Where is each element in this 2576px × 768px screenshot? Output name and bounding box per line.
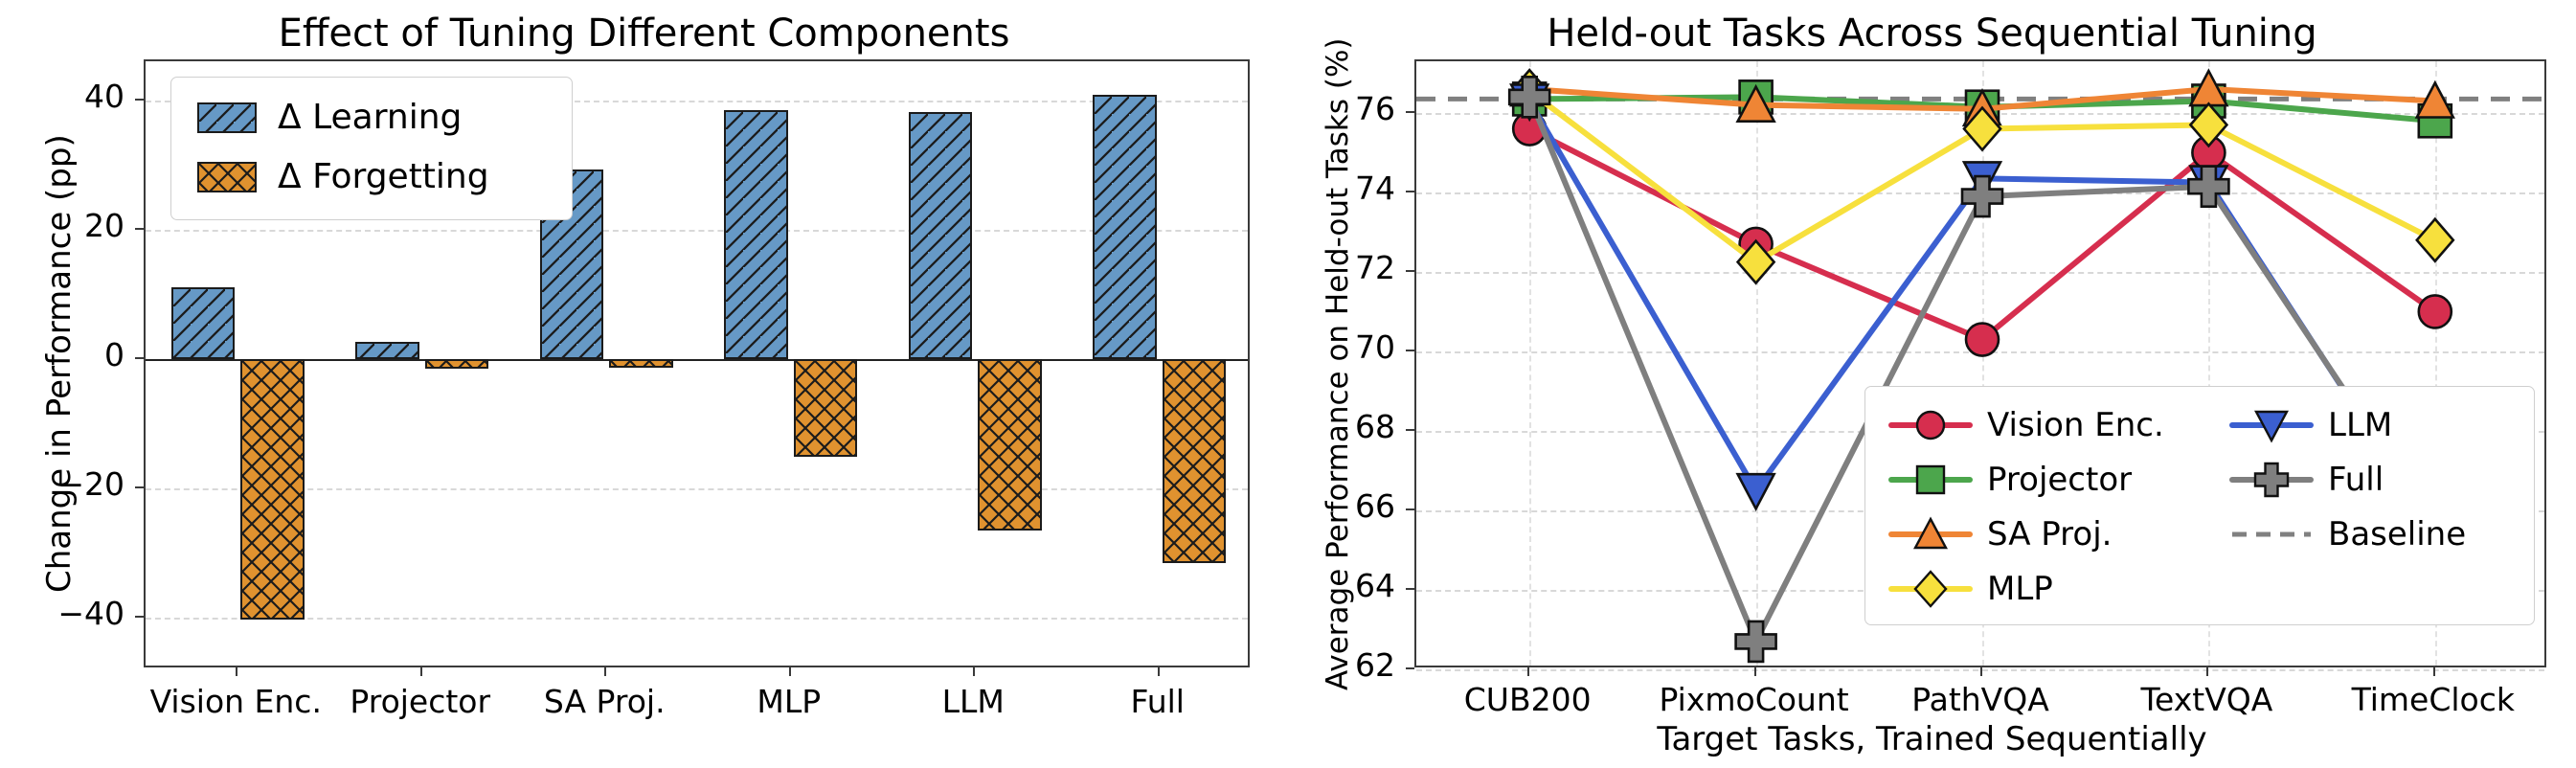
right-x-axis-label: Target Tasks, Trained Sequentially [1288,720,2576,758]
bar-forgetting [978,359,1041,531]
left-y-tick-label: −40 [0,595,124,632]
left-legend-label: Δ Forgetting [278,157,489,196]
right-legend-item[interactable]: Baseline [2228,512,2466,556]
right-legend-label: MLP [1987,570,2053,608]
right-x-tick [2433,667,2435,676]
data-point-marker [1736,621,1776,662]
data-point-marker [1738,474,1774,508]
left-chart-title: Effect of Tuning Different Components [0,11,1288,56]
left-y-tick-label: 0 [0,336,124,373]
right-legend-item[interactable]: MLP [1887,567,2053,611]
legend-dashed-line-icon [2228,512,2315,556]
right-y-tick [1406,191,1414,192]
right-legend-label: Full [2328,461,2384,499]
data-point-marker [1962,176,2002,216]
legend-circle-icon [1887,403,1974,447]
left-x-tick [236,667,237,676]
left-y-tick-label: −20 [0,465,124,503]
left-legend-item[interactable]: Δ Learning [197,98,462,137]
legend-plus-icon [2228,458,2315,502]
left-y-tick [135,616,144,618]
right-legend-label: SA Proj. [1987,515,2112,553]
data-point-marker [2419,295,2452,328]
right-legend-item[interactable]: Projector [1887,458,2132,502]
left-x-tick-label: Full [995,683,1321,720]
bar-forgetting [794,359,857,458]
legend-triangle-up-icon [1887,512,1974,556]
right-y-tick-label: 76 [1288,90,1395,127]
left-y-tick [135,99,144,101]
right-y-tick [1406,429,1414,431]
left-legend-swatch [197,102,257,133]
right-y-tick [1406,667,1414,669]
right-legend-item[interactable]: SA Proj. [1887,512,2112,556]
left-x-tick [604,667,606,676]
series-line [1529,129,2435,340]
right-legend-label: Projector [1987,461,2132,499]
bar-forgetting [609,359,672,368]
bar-forgetting [240,359,304,620]
right-legend-label: Baseline [2328,515,2466,553]
bar-forgetting [425,359,488,369]
right-x-tick [1980,667,1982,676]
left-x-tick [420,667,422,676]
bar-learning [724,110,787,359]
figure-canvas: Effect of Tuning Different Components Ch… [0,0,2576,768]
left-gridline [146,488,1248,490]
right-y-tick-label: 70 [1288,328,1395,366]
left-y-tick [135,357,144,359]
right-legend-label: Vision Enc. [1987,406,2164,444]
right-y-tick-label: 68 [1288,408,1395,445]
right-y-tick-label: 66 [1288,487,1395,525]
left-gridline [146,618,1248,620]
legend-diamond-icon [1887,567,1974,611]
right-chart-panel: Held-out Tasks Across Sequential Tuning … [1288,0,2576,768]
left-x-tick [789,667,791,676]
left-y-tick-label: 40 [0,78,124,115]
right-x-tick [2206,667,2208,676]
left-x-tick [1158,667,1160,676]
data-point-marker [1966,324,1999,356]
right-y-tick [1406,588,1414,590]
legend-square-icon [1887,458,1974,502]
data-point-marker [2417,219,2453,261]
right-x-tick [1527,667,1529,676]
left-zero-line [146,359,1248,361]
left-legend-item[interactable]: Δ Forgetting [197,157,489,196]
bar-learning [909,112,972,359]
bar-learning [355,342,418,359]
right-y-tick-label: 64 [1288,567,1395,604]
left-gridline [146,230,1248,232]
right-legend-label: LLM [2328,406,2392,444]
left-y-tick [135,228,144,230]
right-y-tick-label: 72 [1288,249,1395,286]
right-x-tick [1754,667,1756,676]
bar-learning [171,287,235,358]
right-y-tick [1406,508,1414,510]
left-y-tick [135,486,144,488]
bar-forgetting [1163,359,1226,563]
right-y-tick [1406,111,1414,113]
right-legend-item[interactable]: Full [2228,458,2384,502]
right-x-tick-label: TimeClock [2271,681,2576,718]
right-y-tick [1406,350,1414,351]
right-y-tick-label: 62 [1288,646,1395,684]
right-legend-item[interactable]: LLM [2228,403,2392,447]
right-y-tick [1406,270,1414,272]
bar-learning [1093,95,1156,359]
left-legend-swatch [197,162,257,192]
left-legend-label: Δ Learning [278,98,462,137]
right-legend-item[interactable]: Vision Enc. [1887,403,2164,447]
right-chart-title: Held-out Tasks Across Sequential Tuning [1288,11,2576,56]
legend-triangle-down-icon [2228,403,2315,447]
right-y-tick-label: 74 [1288,169,1395,207]
left-y-tick-label: 20 [0,207,124,244]
left-chart-panel: Effect of Tuning Different Components Ch… [0,0,1288,768]
left-x-tick [973,667,975,676]
